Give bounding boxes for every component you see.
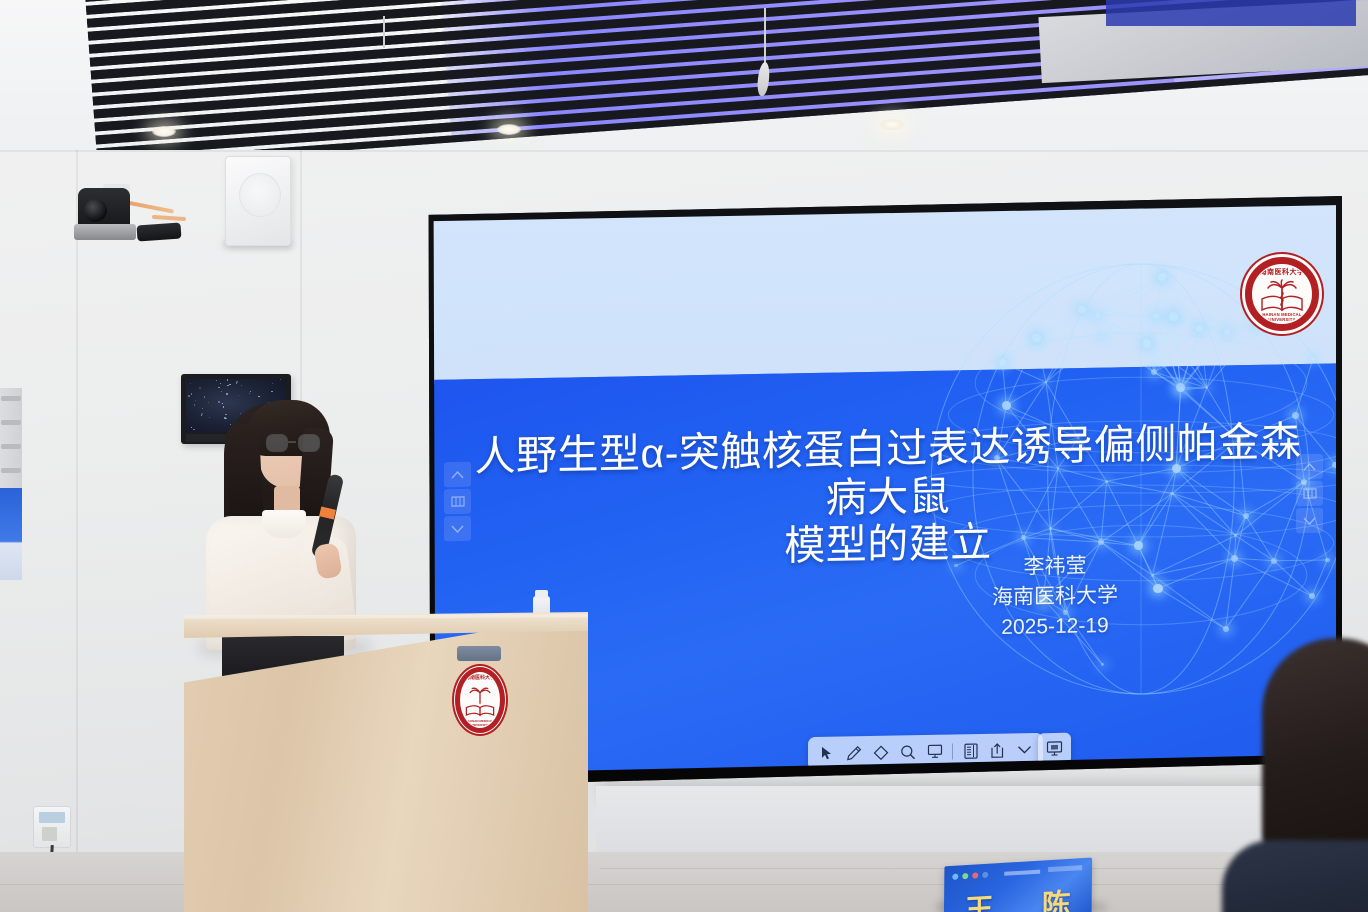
network-node xyxy=(999,359,1006,366)
seal-center: 海南医科大学 HAINAN MEDICAL UNIVERSITY xyxy=(1253,265,1311,323)
network-node xyxy=(1178,387,1184,393)
eraser-tool[interactable] xyxy=(867,740,894,765)
prev-page-button[interactable] xyxy=(444,462,471,487)
nameplate-dots xyxy=(952,872,988,880)
university-logo: 海南医科大学 HAINAN MEDICAL UNIVERSITY xyxy=(1240,252,1324,336)
network-node xyxy=(1196,325,1203,332)
wall-poster xyxy=(0,488,22,580)
pages-icon xyxy=(1303,488,1317,499)
presentation-screen-icon xyxy=(1046,740,1063,757)
nameplate-dot xyxy=(962,873,968,879)
slide-byline: 李祎莹 海南医科大学 2025-12-19 xyxy=(900,549,1210,644)
spotlight-tool[interactable] xyxy=(921,739,948,764)
pages-button[interactable] xyxy=(444,489,471,514)
network-node xyxy=(1153,313,1159,319)
slide-panel-tool[interactable] xyxy=(957,738,984,763)
network-node xyxy=(1100,336,1103,339)
chevron-down-icon xyxy=(1017,745,1032,754)
downlight xyxy=(880,119,904,130)
network-node xyxy=(1078,306,1085,313)
rod-of-asclepius-icon xyxy=(1276,288,1288,310)
cursor-arrow-icon xyxy=(821,746,833,761)
magnifier-tool[interactable] xyxy=(894,739,921,764)
nameplate-line xyxy=(1048,865,1082,872)
seal-cn-name: 海南医科大学 xyxy=(1253,267,1311,277)
network-node xyxy=(1095,313,1100,318)
bottle-cap xyxy=(535,590,548,598)
collar xyxy=(262,510,306,538)
open-book-icon xyxy=(465,704,495,718)
network-node xyxy=(1325,558,1330,563)
spotlight-icon xyxy=(927,744,943,759)
network-node xyxy=(1143,339,1151,347)
slide-panel-icon xyxy=(964,743,978,759)
pen-icon xyxy=(846,745,862,761)
more-tools-button[interactable] xyxy=(1011,737,1038,762)
blurred-audience-shoulder xyxy=(1222,840,1368,912)
nameplate-dot xyxy=(982,872,988,878)
podium-plaque xyxy=(457,646,501,661)
prev-page-button[interactable] xyxy=(1296,454,1323,479)
pages-button[interactable] xyxy=(1296,481,1323,506)
blurred-audience-head xyxy=(1262,638,1368,864)
nameplate-line xyxy=(1004,870,1040,876)
network-node xyxy=(1206,386,1209,389)
pages-icon xyxy=(451,496,465,507)
next-page-button[interactable] xyxy=(1296,508,1323,533)
nameplate-text: 王 陈 xyxy=(944,880,1092,912)
toolbar-separator xyxy=(952,743,953,759)
seal-center: 海南医科大学 HAINAN MEDICAL UNIVERSITY xyxy=(461,673,499,727)
downlight xyxy=(497,124,521,135)
chevron-up-icon xyxy=(451,470,464,478)
photo-scene: 海南医科大学 HAINAN MEDICAL UNIVERSITY 人野生型α-突… xyxy=(0,0,1368,912)
network-node xyxy=(1223,626,1229,632)
magnifier-icon xyxy=(900,744,916,760)
wall-speaker xyxy=(225,156,291,246)
desk-nameplate: 王 陈 xyxy=(944,858,1092,912)
slide-sidenav-right[interactable] xyxy=(1296,454,1323,535)
wall-outlet-plate xyxy=(33,806,71,848)
network-node xyxy=(1224,329,1230,335)
slide-sidenav-left[interactable] xyxy=(444,462,471,543)
palm-tree-icon xyxy=(468,686,492,705)
ceiling-blue-panel xyxy=(1106,0,1356,26)
network-node xyxy=(1032,334,1041,343)
next-page-button[interactable] xyxy=(444,516,471,541)
screen-cast-button[interactable] xyxy=(1038,733,1071,765)
network-node xyxy=(1332,462,1336,469)
chevron-down-icon xyxy=(1303,516,1316,524)
hanging-cable xyxy=(764,8,766,66)
wall-seam xyxy=(76,150,78,912)
seal-en-name: HAINAN MEDICAL UNIVERSITY xyxy=(461,719,499,727)
eraser-icon xyxy=(873,744,889,760)
camera-lens-icon xyxy=(84,199,107,222)
slide-title-line1: 人野生型α-突触核蛋白过表达诱导偏侧帕金森病大鼠 xyxy=(470,418,1306,528)
pen-tool[interactable] xyxy=(840,740,867,765)
wall-seam xyxy=(0,150,1368,152)
export-icon xyxy=(990,742,1005,758)
ceiling-microphone xyxy=(136,222,181,241)
export-tool[interactable] xyxy=(984,737,1011,762)
podium-university-logo: 海南医科大学 HAINAN MEDICAL UNIVERSITY xyxy=(452,664,508,736)
seal-cn-name: 海南医科大学 xyxy=(461,674,499,681)
camera-base xyxy=(74,224,136,240)
eyeglasses xyxy=(266,434,318,451)
cursor-arrow-tool[interactable] xyxy=(813,741,840,766)
nameplate-dot xyxy=(952,874,958,880)
seal-en-name: HAINAN MEDICAL UNIVERSITY xyxy=(1253,312,1311,322)
downlight xyxy=(152,126,176,137)
chevron-down-icon xyxy=(451,524,464,532)
slide-date: 2025-12-19 xyxy=(900,609,1210,644)
network-node xyxy=(1002,401,1011,410)
nameplate-dot xyxy=(972,872,978,878)
slat-baffle-ceiling xyxy=(0,0,1368,150)
hanging-cable xyxy=(383,16,385,48)
chevron-up-icon xyxy=(1303,462,1316,470)
network-node xyxy=(1169,312,1178,321)
